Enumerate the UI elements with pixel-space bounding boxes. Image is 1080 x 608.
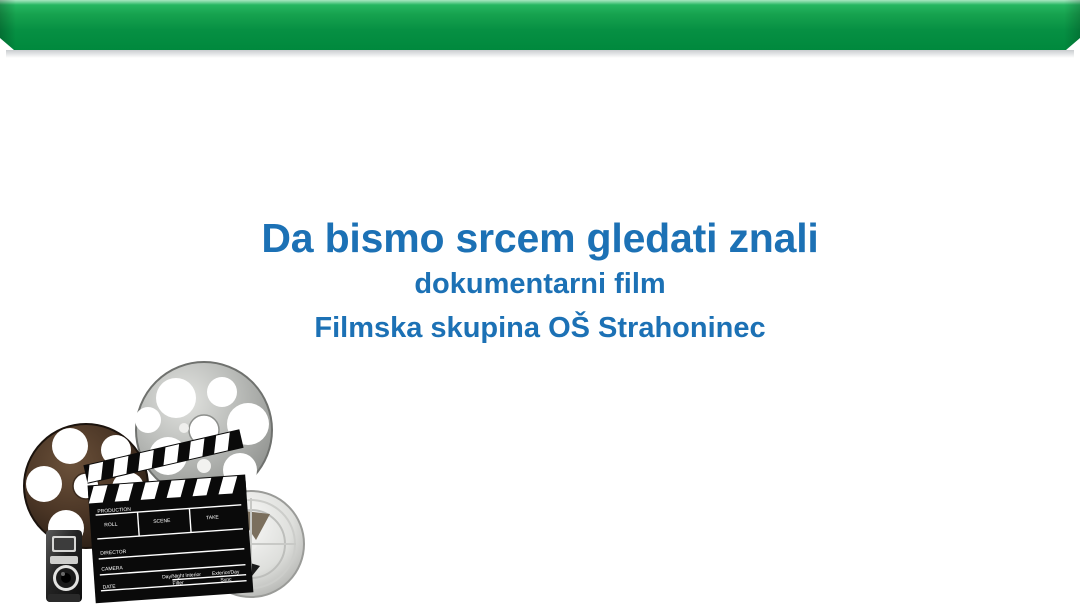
svg-text:Filter: Filter [172, 580, 184, 587]
svg-text:SCENE: SCENE [153, 518, 171, 525]
vintage-movie-camera [46, 530, 82, 602]
svg-text:TAKE: TAKE [206, 514, 220, 521]
film-equipment-collage: PRODUCTION ROLL SCENE TAKE DIRECTOR CAME… [8, 358, 318, 608]
title-block: Da bismo srcem gledati znali dokumentarn… [0, 214, 1080, 350]
presentation-slide: Da bismo srcem gledati znali dokumentarn… [0, 0, 1080, 608]
svg-text:ROLL: ROLL [104, 522, 118, 529]
subtitle-genre: dokumentarni film [0, 262, 1080, 306]
svg-text:Sync: Sync [220, 577, 232, 584]
subtitle-author: Filmska skupina OŠ Strahoninec [0, 306, 1080, 350]
svg-text:DATE: DATE [102, 584, 116, 591]
page-title: Da bismo srcem gledati znali [0, 214, 1080, 262]
banner-shadow [6, 50, 1074, 58]
banner-decoration [0, 0, 1080, 58]
green-banner [0, 0, 1080, 50]
